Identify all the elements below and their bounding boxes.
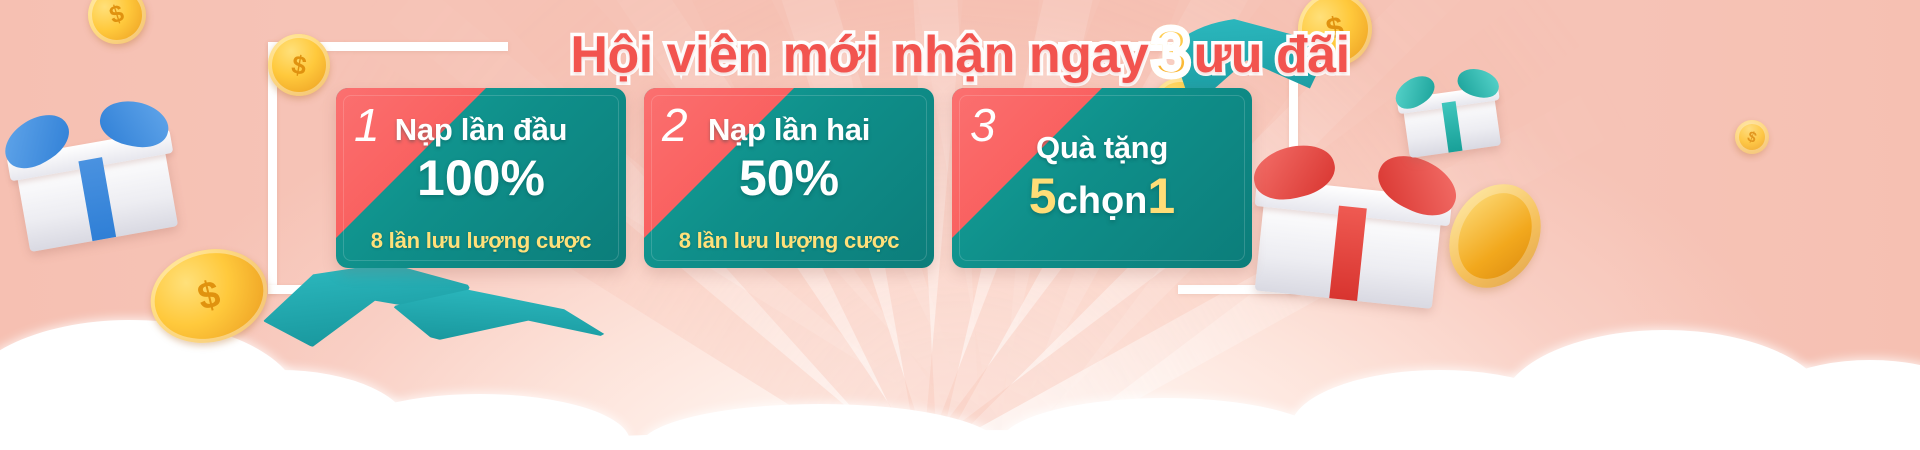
coin-symbol: $ [106,0,127,30]
gift-box-icon [1255,141,1448,309]
gift-box-icon [1399,66,1501,158]
coin-symbol: $ [194,273,225,320]
coin-symbol: $ [1745,128,1759,147]
coin-symbol: $ [1172,92,1188,121]
coin-symbol: $ [289,48,309,81]
gift-box-icon [8,98,178,252]
promotional-banner: Hội viên mới nhận ngay3ưu đãi 1 Nạp lần … [0,0,1920,450]
coin-symbol: $ [1323,11,1346,48]
